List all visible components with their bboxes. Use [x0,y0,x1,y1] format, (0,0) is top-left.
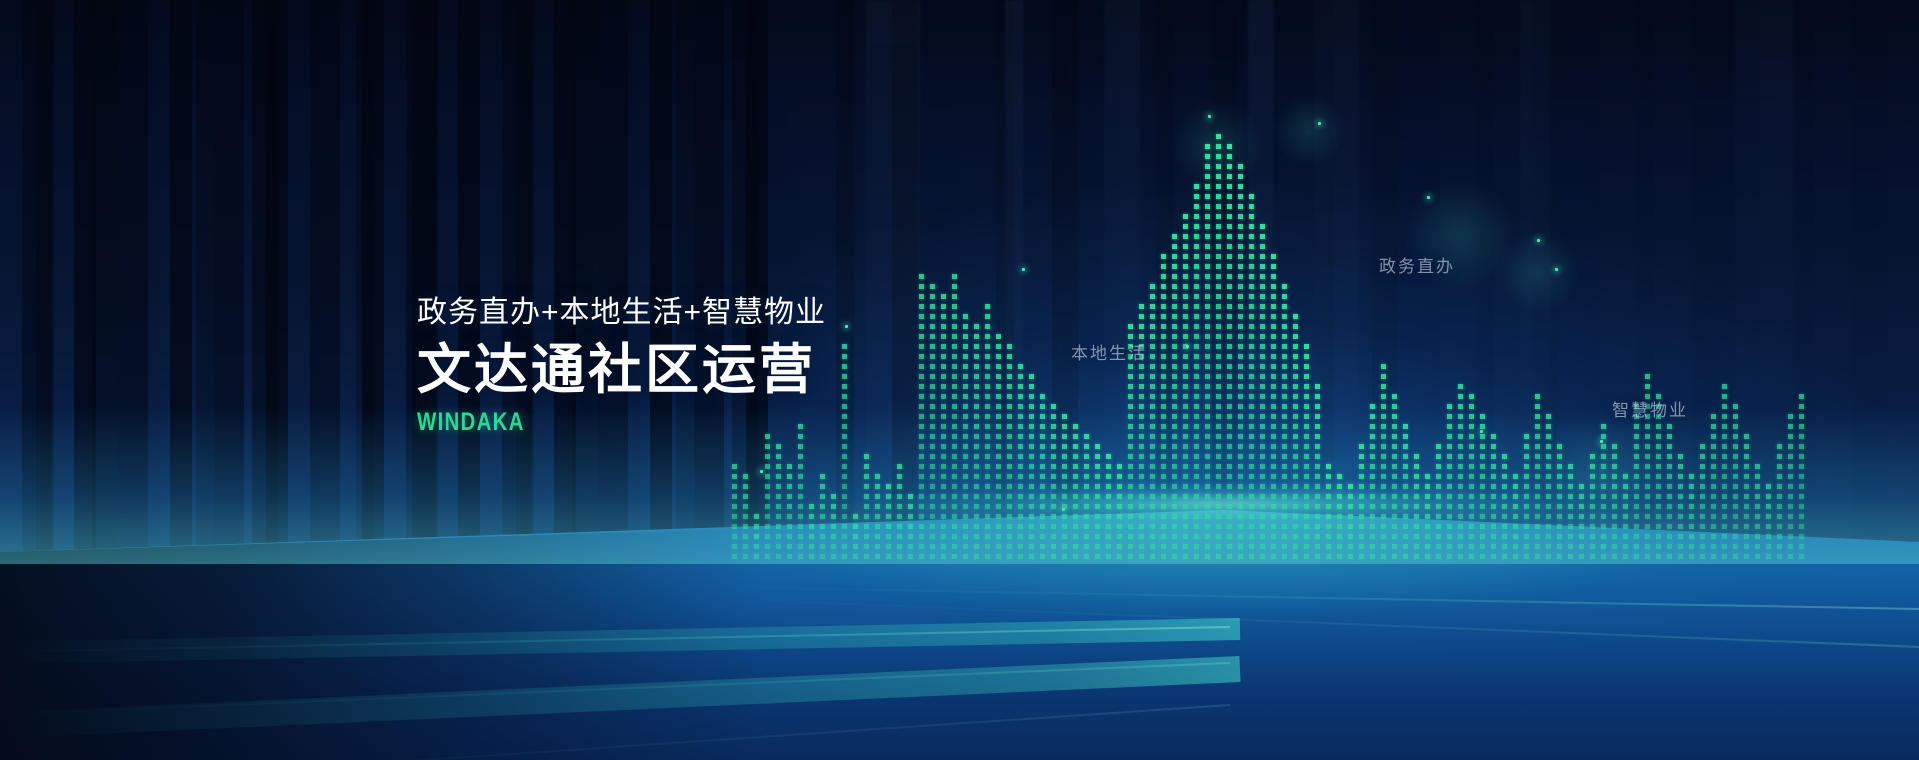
skyline-bar [1491,434,1496,564]
skyline-bar [1711,414,1716,564]
skyline-bar [1667,424,1672,564]
skyline-bar [1216,134,1221,564]
skyline-bar [1106,454,1111,564]
skyline-bar [1029,374,1034,564]
skyline-bar [1337,474,1342,564]
skyline-bar [1447,404,1452,564]
skyline-bar [985,304,990,564]
skyline-bar [1117,464,1122,564]
skyline-bar [1755,464,1760,564]
skyline-bar [798,424,803,564]
skyline-bar [1777,444,1782,564]
skyline-bar [1249,194,1254,564]
sparkle-particle [1480,430,1483,433]
sparkle-particle [1427,196,1430,199]
skyline-bar [1689,474,1694,564]
skyline-bar [908,494,913,564]
skyline-bar [776,444,781,564]
skyline-bar [1381,364,1386,564]
skyline-bar [1414,454,1419,564]
sparkle-particle [1186,345,1189,348]
skyline-bar [1469,394,1474,564]
skyline-bar [1634,404,1639,564]
zone-label-3: 智慧物业 [1612,396,1688,421]
skyline-bar [1018,364,1023,564]
skyline-bar [1568,464,1573,564]
skyline-bar [831,494,836,564]
skyline-bar [875,474,880,564]
headline-block: 政务直办+本地生活+智慧物业 文达通社区运营 WINDAKA [417,294,826,436]
road-line [690,585,1919,610]
sparkle-particle [1208,115,1211,118]
skyline-bar [930,284,935,564]
brand-wordmark: WINDAKA [417,408,752,436]
skyline-bar [1623,474,1628,564]
skyline-bar [1601,424,1606,564]
dotted-skyline-chart [0,4,1919,564]
skyline-bar [974,324,979,564]
skyline-bar [963,314,968,564]
skyline-bar [1513,474,1518,564]
skyline-bar [1546,414,1551,564]
skyline-bar [1282,284,1287,564]
skyline-bar [1590,454,1595,564]
sparkle-particle [1318,122,1321,125]
skyline-bar [1073,424,1078,564]
skyline-bar [743,474,748,564]
hero-banner: 政务直办本地生活智慧物业 政务直办+本地生活+智慧物业 文达通社区运营 WIND… [0,0,1919,760]
sparkle-particle [760,470,763,473]
skyline-bar [1205,144,1210,564]
skyline-bar [1326,464,1331,564]
zone-label-2: 本地生活 [1071,339,1147,364]
skyline-bar [996,334,1001,564]
skyline-bar [1227,144,1232,564]
skyline-bar [1788,414,1793,564]
skyline-bar [809,504,814,564]
skyline-bar [1722,384,1727,564]
skyline-bar [864,454,869,564]
banner-subtitle: 政务直办+本地生活+智慧物业 [417,294,826,332]
sparkle-particle [1062,508,1065,511]
skyline-bar [1612,444,1617,564]
skyline-bar [1260,224,1265,564]
skyline-bar [1271,254,1276,564]
skyline-bar [1304,344,1309,564]
skyline-bar [1293,314,1298,564]
skyline-bar [897,464,902,564]
skyline-bar [1084,434,1089,564]
skyline-bar [787,464,792,564]
skyline-bar [1733,404,1738,564]
skyline-bar [1315,384,1320,564]
skyline-bar [1744,434,1749,564]
skyline-bar [1392,394,1397,564]
skyline-bar [1458,384,1463,564]
skyline-bar [1480,414,1485,564]
skyline-bar [1502,454,1507,564]
skyline-bar [1194,184,1199,564]
banner-title: 文达通社区运营 [417,338,826,402]
skyline-bar [1579,484,1584,564]
skyline-bar [754,514,759,564]
skyline-bar [1172,234,1177,564]
skyline-bar [1678,454,1683,564]
sparkle-particle [845,325,848,328]
skyline-bar [952,274,957,564]
skyline-bar [1161,254,1166,564]
skyline-bar [853,514,858,564]
skyline-bar [1007,344,1012,564]
skyline-bar [1062,414,1067,564]
skyline-bar [1359,444,1364,564]
skyline-bar [1535,394,1540,564]
skyline-bar [1524,434,1529,564]
skyline-bar [1095,444,1100,564]
skyline-bar [732,464,737,564]
sparkle-particle [1537,239,1540,242]
skyline-bar [941,294,946,564]
skyline-bar [1700,444,1705,564]
skyline-bar [1799,394,1804,564]
skyline-bar [1238,164,1243,564]
sparkle-particle [1022,268,1025,271]
skyline-bar [1051,404,1056,564]
skyline-bar [1557,444,1562,564]
skyline-base-glow [0,4,1919,564]
road-band [0,618,1240,664]
skyline-bar [1436,444,1441,564]
skyline-bar [1150,284,1155,564]
skyline-bar [1370,404,1375,564]
skyline-bar [765,434,770,564]
skyline-bar [1348,484,1353,564]
sparkle-particle [1555,268,1558,271]
skyline-bar [919,274,924,564]
skyline-bar [1425,474,1430,564]
skyline-bar [1040,394,1045,564]
sparkle-particle [1600,440,1603,443]
skyline-bar [1403,424,1408,564]
skyline-bar [1183,214,1188,564]
skyline-bar [842,344,847,564]
zone-label-1: 政务直办 [1379,252,1455,277]
skyline-bar [820,474,825,564]
skyline-bar [886,484,891,564]
skyline-bar [1766,484,1771,564]
